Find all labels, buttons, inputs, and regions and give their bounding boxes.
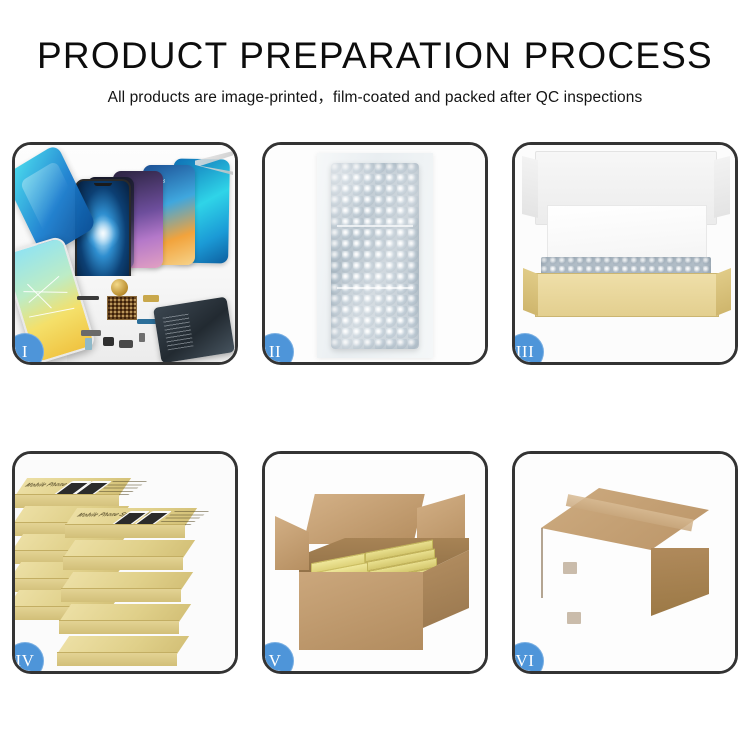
camera-module-part: [103, 337, 114, 346]
phone-notch: [94, 183, 112, 186]
step-3-image: III: [515, 145, 735, 362]
product-preparation-infographic: PRODUCT PREPARATION PROCESS All products…: [0, 0, 750, 750]
carton-back-flap: [303, 494, 425, 544]
sim-tray-part: [85, 338, 92, 350]
page-subtitle: All products are image-printed，film-coat…: [0, 76, 750, 107]
retail-box-front: [63, 556, 183, 570]
bubble-wrap-sleeve: [331, 163, 419, 349]
step-6-image: VI: [515, 454, 735, 671]
process-step-panel-3: III: [512, 142, 738, 365]
process-step-panel-4: Mobile Phone Spare Parts: [12, 451, 238, 674]
retail-box: [57, 636, 177, 666]
vibrator-motor-part: [111, 279, 128, 296]
chip-array-part: [107, 296, 137, 320]
step-4-image: Mobile Phone Spare Parts: [15, 454, 235, 671]
retail-box-front: [65, 524, 185, 538]
page-title: PRODUCT PREPARATION PROCESS: [0, 0, 750, 76]
header: PRODUCT PREPARATION PROCESS All products…: [0, 0, 750, 107]
retail-box: Mobile Phone Spare Parts: [65, 508, 185, 538]
retail-box-front: [57, 652, 177, 666]
connector-part: [143, 295, 159, 302]
carton-handle-cutout: [563, 562, 577, 574]
retail-box-front: [59, 620, 179, 634]
process-step-panel-1: 08:08: [12, 142, 238, 365]
process-step-grid: 08:08: [12, 142, 738, 674]
retail-box: Mobile Phone Spare Parts: [15, 478, 119, 508]
retail-box-stack: Mobile Phone Spare Parts: [15, 472, 235, 671]
process-step-panel-6: VI: [512, 451, 738, 674]
retail-box: [61, 572, 181, 602]
carton-edge-seam: [541, 528, 543, 598]
retail-box: [59, 604, 179, 634]
step-5-image: V: [265, 454, 485, 671]
speaker-part: [119, 340, 133, 348]
step-1-image: 08:08: [15, 145, 235, 362]
logic-board-part: [153, 297, 235, 362]
process-step-panel-5: V: [262, 451, 488, 674]
button-flex-part: [81, 330, 101, 336]
flex-cable-part: [77, 296, 99, 300]
carton-handle-cutout: [567, 612, 581, 624]
small-screw-part: [139, 333, 145, 342]
step-2-image: II: [265, 145, 485, 362]
kraft-box-tray: [535, 273, 719, 317]
process-step-panel-2: II: [262, 142, 488, 365]
carton-front-face: [299, 572, 423, 650]
retail-box-front: [61, 588, 181, 602]
retail-box: [63, 540, 183, 570]
